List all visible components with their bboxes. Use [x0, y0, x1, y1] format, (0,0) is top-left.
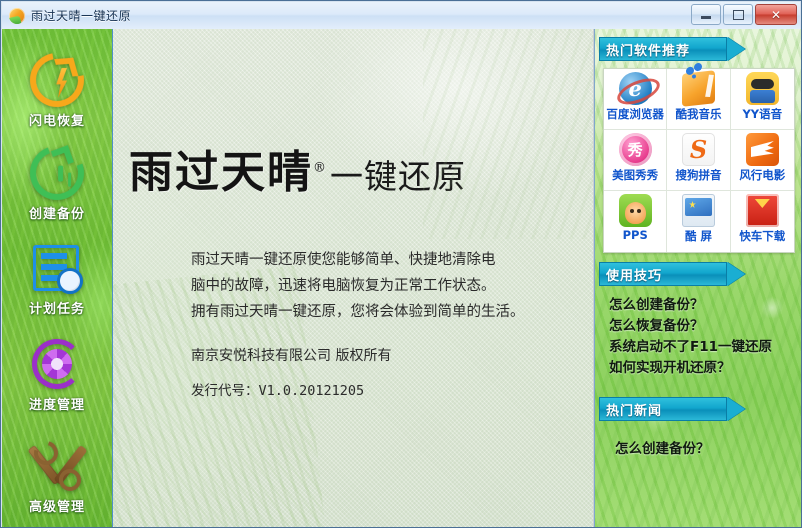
sogou-pinyin-icon: S [682, 133, 715, 166]
maximize-button[interactable] [723, 4, 753, 25]
meitu-icon: 秀 [619, 133, 652, 166]
version-value: V1.0.20121205 [259, 383, 365, 399]
software-item-flashget[interactable]: 快车下载 [731, 191, 794, 252]
product-description: 雨过天晴一键还原使您能够简单、快捷地清除电 脑中的故障，迅速将电脑恢复为正常工作… [191, 247, 581, 325]
header-arrow-icon [727, 397, 745, 421]
close-button[interactable]: ✕ [755, 4, 797, 25]
section-header-news: 热门新闻 [599, 397, 749, 421]
section-title: 使用技巧 [606, 265, 662, 284]
software-item-kuping[interactable]: 酷 屏 [667, 191, 730, 252]
software-label: PPS [623, 228, 648, 242]
gear-progress-icon [30, 337, 84, 391]
sidebar-item-create-backup[interactable]: 创建备份 [2, 146, 112, 232]
wrench-head-icon [30, 437, 63, 470]
software-item-kuwo-music[interactable]: 酷我音乐 [667, 69, 730, 130]
minimize-button[interactable] [691, 4, 721, 25]
maximize-icon [733, 10, 744, 20]
scheduled-task-icon [30, 241, 84, 295]
sidebar-item-flash-restore[interactable]: 闪电恢复 [2, 53, 112, 139]
logo-subtitle: 一键还原 [330, 160, 466, 193]
flashget-icon [746, 194, 779, 227]
description-line: 脑中的故障，迅速将电脑恢复为正常工作状态。 [191, 273, 581, 299]
news-link[interactable]: 怎么创建备份？ [615, 437, 801, 457]
logo-title: 雨过天晴® [129, 151, 328, 195]
sidebar-item-label: 进度管理 [29, 394, 85, 413]
application-window: 雨过天晴一键还原 ✕ 闪电恢复 创建备份 计划任务 进度管理 [0, 0, 802, 528]
section-header-tips: 使用技巧 [599, 262, 749, 286]
sidebar-item-scheduled-task[interactable]: 计划任务 [2, 241, 112, 327]
right-panel: 热门软件推荐 e 百度浏览器 酷我音乐 YY语音 秀 美图秀秀 [594, 29, 801, 527]
clock-backup-icon [21, 137, 93, 209]
software-item-yy-voice[interactable]: YY语音 [731, 69, 794, 130]
app-logo-icon [9, 8, 25, 24]
software-item-baidu-browser[interactable]: e 百度浏览器 [604, 69, 667, 130]
copyright-text: 南京安悦科技有限公司 版权所有 [191, 345, 391, 365]
sidebar: 闪电恢复 创建备份 计划任务 进度管理 高级管理 [2, 29, 113, 527]
kuping-icon [682, 194, 715, 227]
registered-mark: ® [313, 160, 328, 175]
sidebar-item-progress-manage[interactable]: 进度管理 [2, 337, 112, 423]
kuwo-music-icon [682, 70, 715, 106]
main-panel: 雨过天晴® 一键还原 雨过天晴一键还原使您能够简单、快捷地清除电 脑中的故障，迅… [113, 29, 593, 527]
tip-link[interactable]: 怎么恢复备份？ [609, 316, 801, 337]
software-grid: e 百度浏览器 酷我音乐 YY语音 秀 美图秀秀 S 搜狗拼音 [603, 68, 795, 253]
header-arrow-icon [727, 262, 745, 286]
section-header-software: 热门软件推荐 [599, 37, 749, 61]
software-label: 酷 屏 [685, 228, 712, 244]
software-label: 百度浏览器 [606, 106, 664, 122]
version-label: 发行代号： [191, 383, 259, 399]
lightning-restore-icon [19, 42, 94, 117]
software-label: 快车下载 [739, 228, 785, 244]
funshion-movie-icon [746, 133, 779, 166]
logo-title-text: 雨过天晴 [129, 147, 313, 198]
software-label: 搜狗拼音 [675, 167, 721, 183]
minimize-icon [701, 16, 711, 19]
window-title: 雨过天晴一键还原 [31, 7, 131, 24]
tip-link[interactable]: 系统启动不了F11一键还原 [609, 337, 801, 358]
tip-link[interactable]: 怎么创建备份？ [609, 295, 801, 316]
title-bar: 雨过天晴一键还原 ✕ [2, 2, 800, 30]
close-icon: ✕ [771, 9, 781, 21]
sidebar-item-label: 计划任务 [29, 298, 85, 317]
software-label: 美图秀秀 [612, 167, 658, 183]
version-text: 发行代号：V1.0.20121205 [191, 379, 364, 399]
description-line: 雨过天晴一键还原使您能够简单、快捷地清除电 [191, 247, 581, 273]
tools-advanced-icon [30, 439, 84, 493]
window-body: 闪电恢复 创建备份 计划任务 进度管理 高级管理 [2, 29, 800, 527]
baidu-browser-icon: e [619, 72, 652, 105]
software-item-funshion-movie[interactable]: 风行电影 [731, 130, 794, 191]
tips-list: 怎么创建备份？ 怎么恢复备份？ 系统启动不了F11一键还原 如何实现开机还原？ [609, 295, 801, 379]
software-label: 酷我音乐 [675, 106, 721, 122]
sidebar-item-label: 闪电恢复 [29, 110, 85, 129]
sidebar-item-label: 高级管理 [29, 496, 85, 515]
product-logo: 雨过天晴® 一键还原 [129, 151, 579, 195]
sogou-glyph: S [690, 135, 707, 164]
sidebar-item-label: 创建备份 [29, 203, 85, 222]
screwdriver-head-icon [59, 469, 81, 491]
description-line: 拥有雨过天晴一键还原，您将会体验到简单的生活。 [191, 299, 581, 325]
software-item-sogou-pinyin[interactable]: S 搜狗拼音 [667, 130, 730, 191]
pps-icon [619, 194, 652, 227]
sidebar-item-advanced-manage[interactable]: 高级管理 [2, 439, 112, 525]
software-item-pps[interactable]: PPS [604, 191, 667, 252]
header-arrow-icon [727, 37, 745, 61]
meitu-glyph: 秀 [628, 139, 643, 160]
news-list: 怎么创建备份？ [615, 437, 801, 457]
software-label: 风行电影 [739, 167, 785, 183]
yy-voice-icon [746, 72, 779, 105]
window-controls: ✕ [691, 4, 797, 25]
tip-link[interactable]: 如何实现开机还原？ [609, 358, 801, 379]
software-label: YY语音 [742, 106, 782, 122]
section-title: 热门软件推荐 [606, 40, 690, 59]
software-item-meitu[interactable]: 秀 美图秀秀 [604, 130, 667, 191]
section-title: 热门新闻 [606, 400, 662, 419]
